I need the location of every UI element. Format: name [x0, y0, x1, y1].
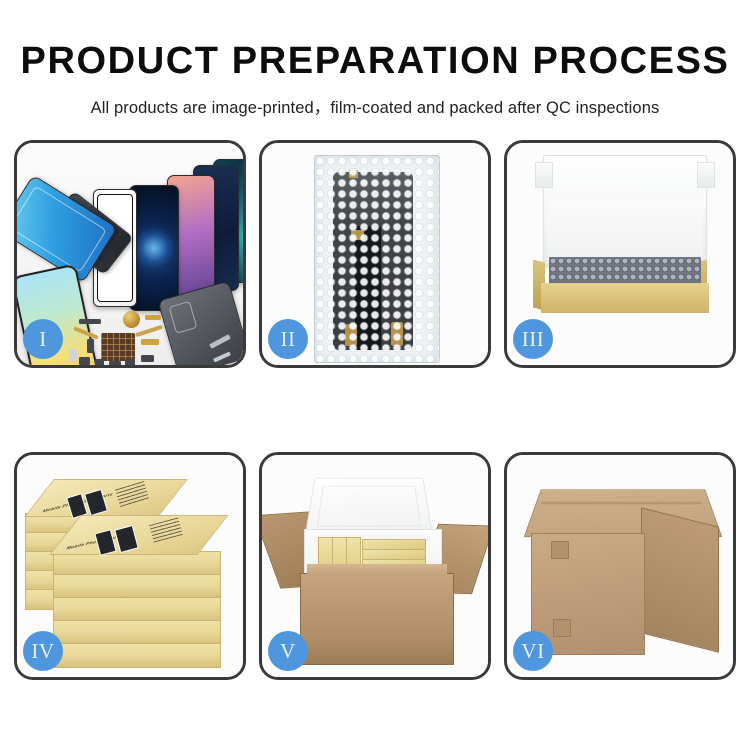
- process-step-panel-3: III: [504, 140, 736, 368]
- yellow-box-front: [541, 283, 709, 313]
- process-step-panel-2: II: [259, 140, 491, 368]
- box-top-face: Mobile Phone Spare Parts: [49, 515, 228, 555]
- foam-sheet: [547, 199, 703, 261]
- small-part: [69, 349, 77, 361]
- small-part: [95, 359, 104, 365]
- step-badge-1: I: [23, 319, 63, 359]
- carton-body: [300, 573, 454, 665]
- small-part: [87, 339, 94, 353]
- stacked-box: [53, 597, 221, 622]
- carton-side-face: [641, 507, 719, 652]
- step-badge-6: VI: [513, 631, 553, 671]
- small-part: [125, 359, 135, 365]
- step-badge-2: II: [268, 319, 308, 359]
- page-header: PRODUCT PREPARATION PROCESS All products…: [0, 0, 750, 118]
- stacked-box: [53, 574, 221, 599]
- bubble-texture: [315, 156, 439, 362]
- carton-front-face: [531, 533, 645, 655]
- process-step-panel-1: I: [14, 140, 246, 368]
- speaker-part: [123, 311, 140, 328]
- bubble-wrap-bag: [314, 155, 440, 363]
- step-badge-5: V: [268, 631, 308, 671]
- small-part: [109, 361, 121, 365]
- small-part: [79, 357, 90, 365]
- step-badge-4: IV: [23, 631, 63, 671]
- stacked-box: [53, 620, 221, 645]
- small-part: [141, 339, 159, 345]
- process-step-panel-5: V: [259, 452, 491, 680]
- small-part: [145, 315, 161, 320]
- page-subtitle: All products are image-printed，film-coat…: [0, 94, 750, 118]
- logic-board-part: [101, 333, 135, 361]
- carton-tape-upper: [551, 541, 569, 559]
- small-part: [79, 319, 101, 324]
- stacked-box: [53, 643, 221, 668]
- step-badge-3: III: [513, 319, 553, 359]
- page-title: PRODUCT PREPARATION PROCESS: [0, 42, 750, 82]
- process-step-panel-6: VI: [504, 452, 736, 680]
- process-step-panel-4: Mobile Phone Spare Parts Mobile Phone Sp…: [14, 452, 246, 680]
- process-step-grid: I II: [14, 140, 736, 680]
- carton-tape-lower: [553, 619, 571, 637]
- carton-top-seam: [541, 502, 702, 505]
- small-part: [141, 355, 154, 362]
